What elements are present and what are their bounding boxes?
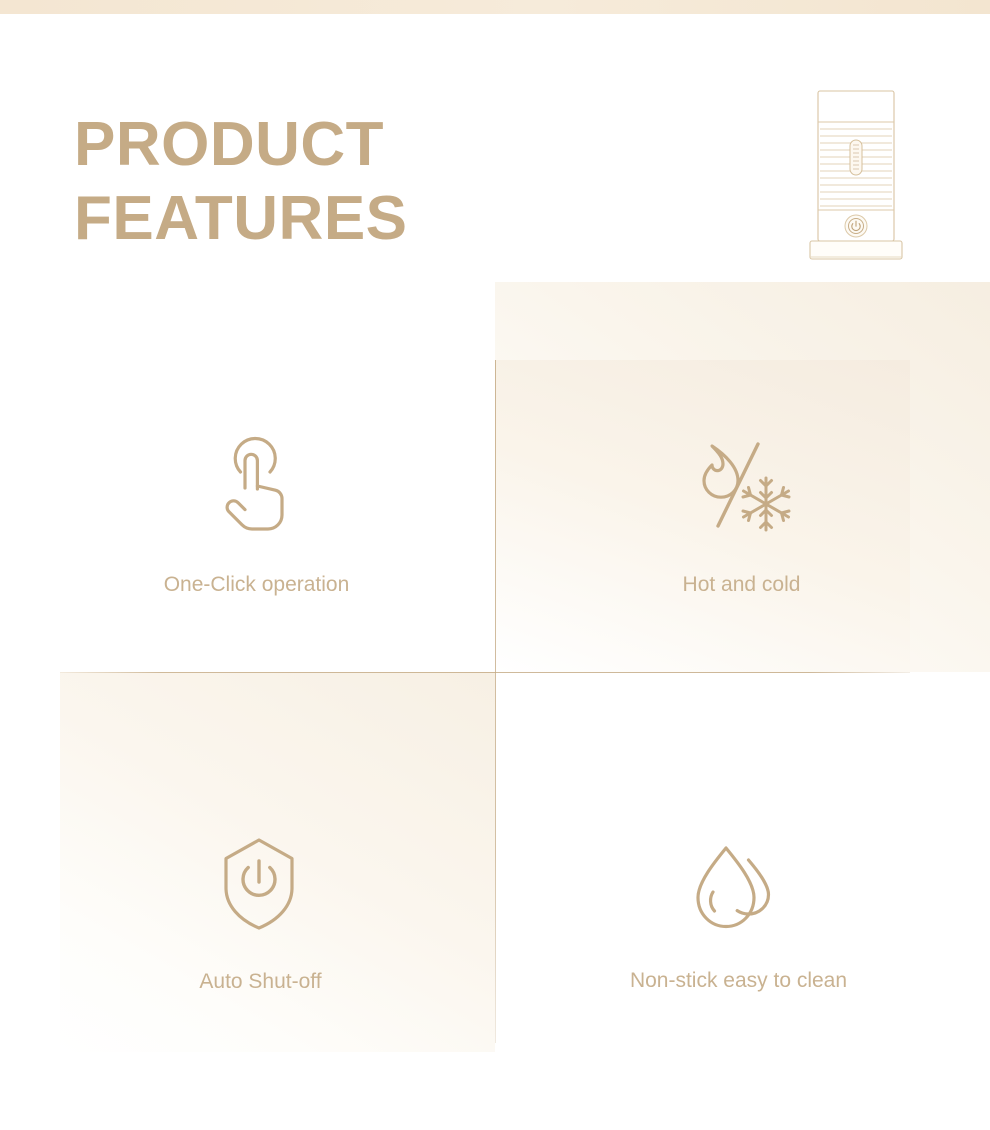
product-illustration <box>808 88 912 263</box>
top-accent-band-gradient <box>0 0 990 14</box>
feature-card-auto-shutoff[interactable]: Auto Shut-off <box>0 672 495 1062</box>
tap-hand-icon <box>196 424 316 544</box>
feature-label-hot-cold: Hot and cold <box>683 572 801 598</box>
features-grid: One-Click operation <box>0 282 990 1052</box>
feature-label-one-click: One-Click operation <box>164 572 350 598</box>
product-features-page: PRODUCT FEATURES <box>0 0 990 1130</box>
feature-card-one-click[interactable]: One-Click operation <box>0 282 495 672</box>
feature-card-non-stick[interactable]: Non-stick easy to clean <box>495 672 990 1062</box>
page-title: PRODUCT FEATURES <box>74 108 594 256</box>
water-drops-icon <box>678 830 798 950</box>
top-accent-band <box>0 0 990 14</box>
flame-snowflake-icon <box>678 424 798 544</box>
feature-card-hot-cold[interactable]: Hot and cold <box>495 282 990 672</box>
shield-power-icon <box>199 824 319 944</box>
feature-label-auto-shutoff: Auto Shut-off <box>199 969 321 995</box>
feature-label-non-stick: Non-stick easy to clean <box>630 968 847 994</box>
